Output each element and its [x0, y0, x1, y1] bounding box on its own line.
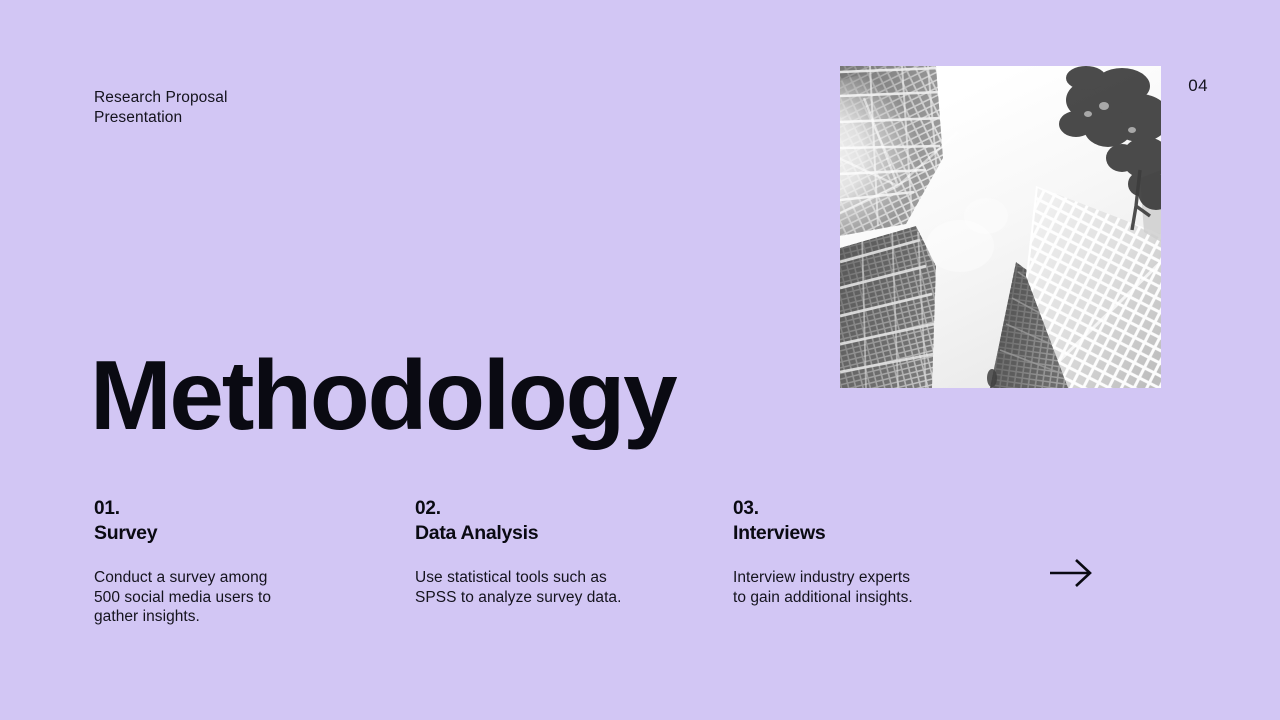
step-number: 03.: [733, 496, 1008, 521]
step-body: Conduct a survey among 500 social media …: [94, 568, 369, 627]
methodology-step-3: 03. Interviews Interview industry expert…: [733, 496, 1008, 607]
arrow-right-icon: [1048, 556, 1098, 590]
deck-label: Research Proposal Presentation: [94, 88, 228, 127]
step-body: Interview industry experts to gain addit…: [733, 568, 1008, 607]
next-slide-button[interactable]: [1048, 556, 1098, 590]
methodology-step-2: 02. Data Analysis Use statistical tools …: [415, 496, 690, 607]
step-body: Use statistical tools such as SPSS to an…: [415, 568, 690, 607]
methodology-step-1: 01. Survey Conduct a survey among 500 so…: [94, 496, 369, 627]
skyscrapers-looking-up-photo: [840, 66, 1161, 388]
step-heading: Data Analysis: [415, 521, 690, 546]
step-number: 02.: [415, 496, 690, 521]
page-title: Methodology: [90, 345, 675, 445]
step-number: 01.: [94, 496, 369, 521]
step-heading: Survey: [94, 521, 369, 546]
step-heading: Interviews: [733, 521, 1008, 546]
slide-methodology: Research Proposal Presentation 04: [0, 0, 1280, 720]
page-number: 04: [1188, 76, 1208, 96]
